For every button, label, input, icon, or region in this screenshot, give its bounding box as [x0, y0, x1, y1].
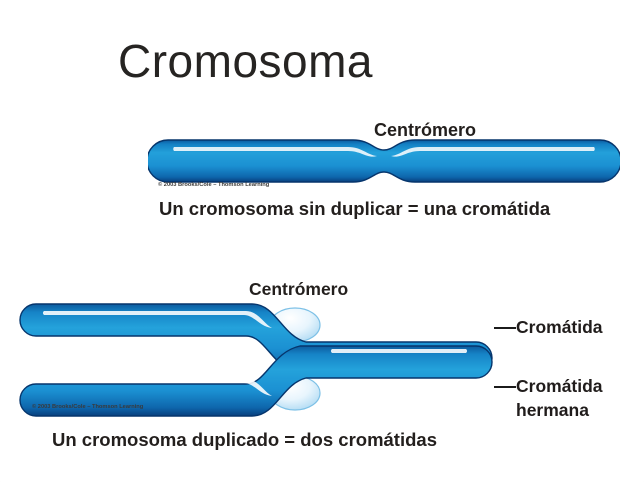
label-sister-chromatid-line2: hermana: [516, 400, 589, 421]
label-chromatid: Cromátida: [516, 317, 603, 338]
caption-unduplicated: Un cromosoma sin duplicar = una cromátid…: [159, 198, 550, 220]
leader-line-chromatid: [494, 327, 516, 329]
chromosome-body: [148, 140, 620, 182]
page-title: Cromosoma: [118, 38, 373, 84]
copyright-notice-bottom: © 2003 Brooks/Cole – Thomson Learning: [32, 404, 143, 410]
slide-canvas: Cromosoma Centrómero: [0, 0, 644, 483]
duplicated-chromosome-figure: [14, 298, 512, 420]
unduplicated-chromosome-figure: [148, 138, 620, 186]
leader-line-sister-chromatid: [494, 386, 516, 388]
duplicated-chromosome-svg: [14, 298, 512, 420]
centromere-label-bottom: Centrómero: [249, 279, 348, 300]
label-sister-chromatid-line1: Cromátida: [516, 376, 603, 397]
caption-duplicated: Un cromosoma duplicado = dos cromátidas: [52, 429, 437, 451]
unduplicated-chromosome-svg: [148, 138, 620, 186]
copyright-notice-top: © 2003 Brooks/Cole – Thomson Learning: [158, 182, 269, 188]
